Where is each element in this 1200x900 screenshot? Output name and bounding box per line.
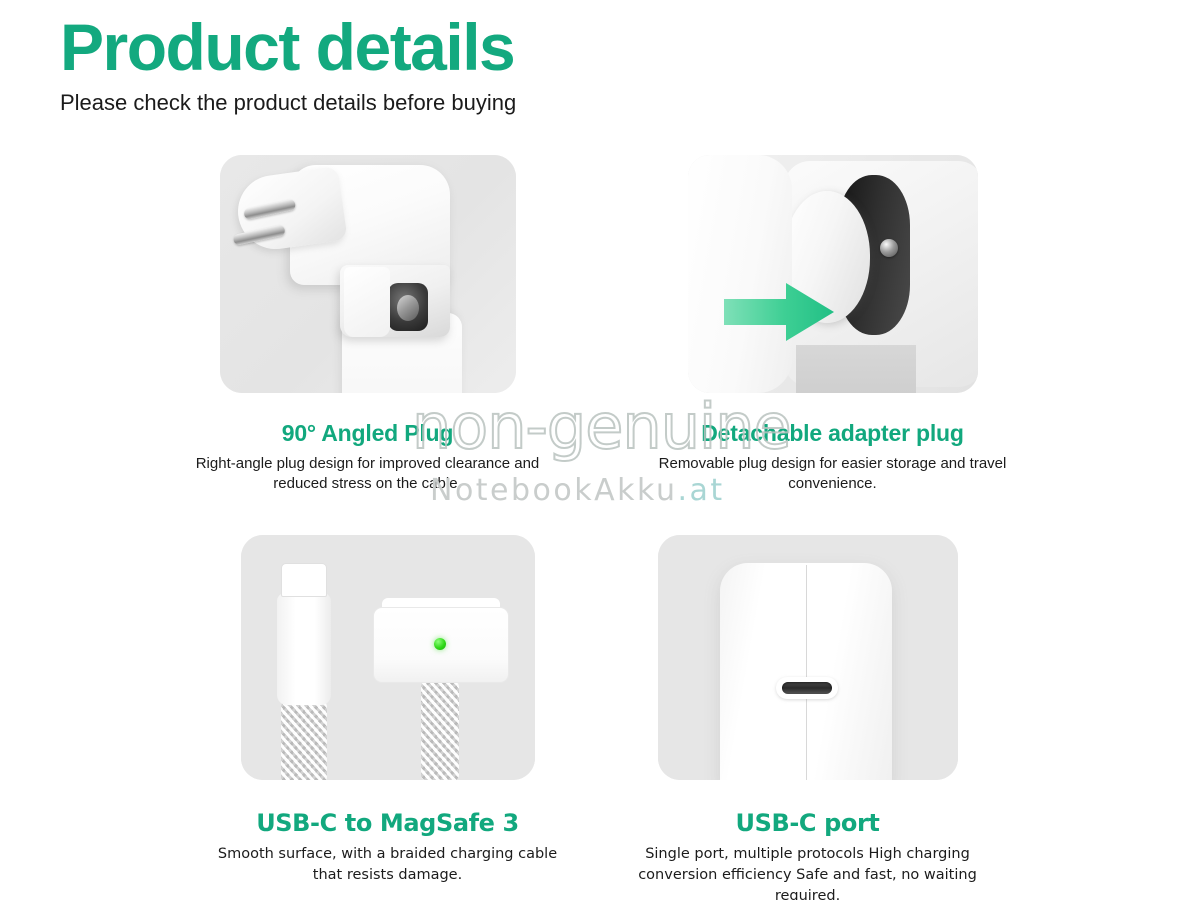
usbc-connector-tip bbox=[281, 563, 327, 597]
feature-description: Smooth surface, with a braided charging … bbox=[200, 844, 575, 886]
housing-shadow-shape bbox=[796, 345, 916, 393]
direction-arrow-icon bbox=[724, 281, 834, 343]
feature-title: USB-C port bbox=[620, 808, 995, 838]
feature-card-usbc-port: USB-C port Single port, multiple protoco… bbox=[620, 535, 995, 900]
feature-title: Detachable adapter plug bbox=[645, 419, 1020, 447]
adapter-seam-line bbox=[806, 565, 807, 780]
usbc-magsafe-cable-photo bbox=[241, 535, 535, 780]
product-details-page: Product details Please check the product… bbox=[0, 0, 1200, 900]
screw-icon bbox=[880, 239, 898, 257]
plug-module-shape bbox=[688, 155, 792, 393]
feature-title: 90° Angled Plug bbox=[180, 419, 555, 447]
plug-socket-recess bbox=[388, 283, 428, 331]
charging-led-indicator bbox=[434, 638, 446, 650]
feature-description: Single port, multiple protocols High cha… bbox=[620, 844, 995, 900]
feature-grid: 90° Angled Plug Right-angle plug design … bbox=[0, 0, 1200, 900]
feature-title: USB-C to MagSafe 3 bbox=[200, 808, 575, 838]
plug-cover-shape bbox=[344, 267, 390, 337]
usbc-port-opening bbox=[776, 677, 838, 699]
feature-card-usbc-to-magsafe: USB-C to MagSafe 3 Smooth surface, with … bbox=[200, 535, 575, 886]
feature-card-detachable-plug: Detachable adapter plug Removable plug d… bbox=[645, 155, 1020, 494]
feature-card-angled-plug: 90° Angled Plug Right-angle plug design … bbox=[180, 155, 555, 494]
usbc-connector-body bbox=[277, 593, 331, 705]
braided-cable-magsafe bbox=[421, 681, 459, 780]
braided-cable-usbc bbox=[281, 701, 327, 780]
feature-description: Removable plug design for easier storage… bbox=[645, 454, 1020, 494]
plug-pin-upper bbox=[243, 199, 296, 221]
angled-eu-plug-photo bbox=[220, 155, 516, 393]
usbc-port-photo bbox=[658, 535, 958, 780]
feature-description: Right-angle plug design for improved cle… bbox=[180, 454, 555, 494]
detachable-plug-photo bbox=[688, 155, 978, 393]
